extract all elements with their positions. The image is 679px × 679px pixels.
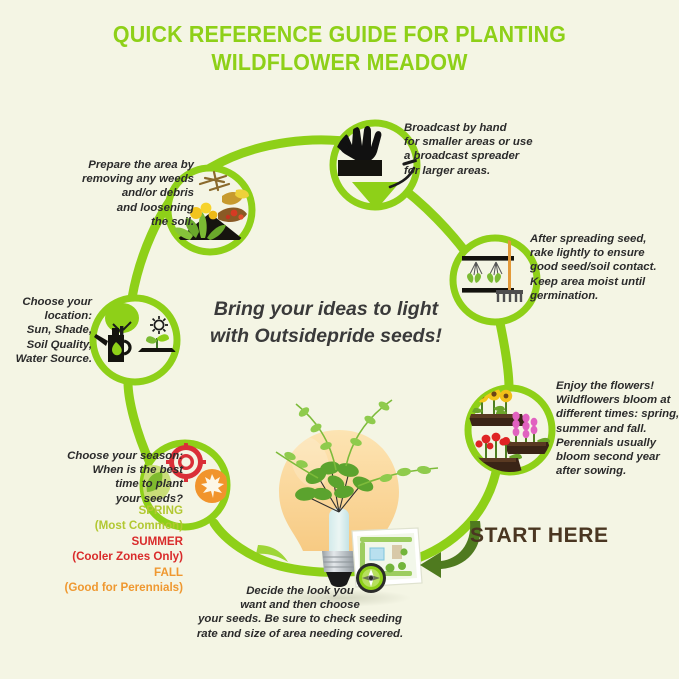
season-summer-note: (Cooler Zones Only) xyxy=(8,549,183,564)
step-text-choose-season: Choose your season: When is the best tim… xyxy=(8,449,183,506)
start-here-label: START HERE xyxy=(470,524,609,548)
season-fall-label: FALL xyxy=(8,565,183,580)
step-text-rake-lightly: After spreading seed, rake lightly to en… xyxy=(530,232,679,303)
season-spring-label: SPRING xyxy=(8,503,183,518)
page-title: QUICK REFERENCE GUIDE FOR PLANTING WILDF… xyxy=(24,20,655,76)
center-slogan: Bring your ideas to light with Outsidepr… xyxy=(176,296,476,350)
season-fall-note: (Good for Perennials) xyxy=(8,580,183,595)
season-spring-note: (Most Common) xyxy=(8,518,183,533)
step-text-decide-look: Decide the look you want and then choose… xyxy=(175,584,425,641)
step-text-choose-location: Choose your location: Sun, Shade, Soil Q… xyxy=(0,295,92,366)
season-summer-label: SUMMER xyxy=(8,534,183,549)
node-choose-location[interactable] xyxy=(93,298,177,382)
step-text-enjoy-flowers: Enjoy the flowers! Wildflowers bloom at … xyxy=(556,379,679,478)
step-text-prepare-area: Prepare the area by removing any weeds a… xyxy=(44,158,194,229)
step-text-broadcast-seed: Broadcast by hand for smaller areas or u… xyxy=(404,121,584,178)
title-line-2: WILDFLOWER MEADOW xyxy=(24,48,655,76)
season-legend: SPRING (Most Common) SUMMER (Cooler Zone… xyxy=(8,503,183,595)
title-line-1: QUICK REFERENCE GUIDE FOR PLANTING xyxy=(113,21,566,47)
node-enjoy-flowers[interactable] xyxy=(468,388,552,473)
infographic-canvas: QUICK REFERENCE GUIDE FOR PLANTING WILDF… xyxy=(0,0,679,679)
